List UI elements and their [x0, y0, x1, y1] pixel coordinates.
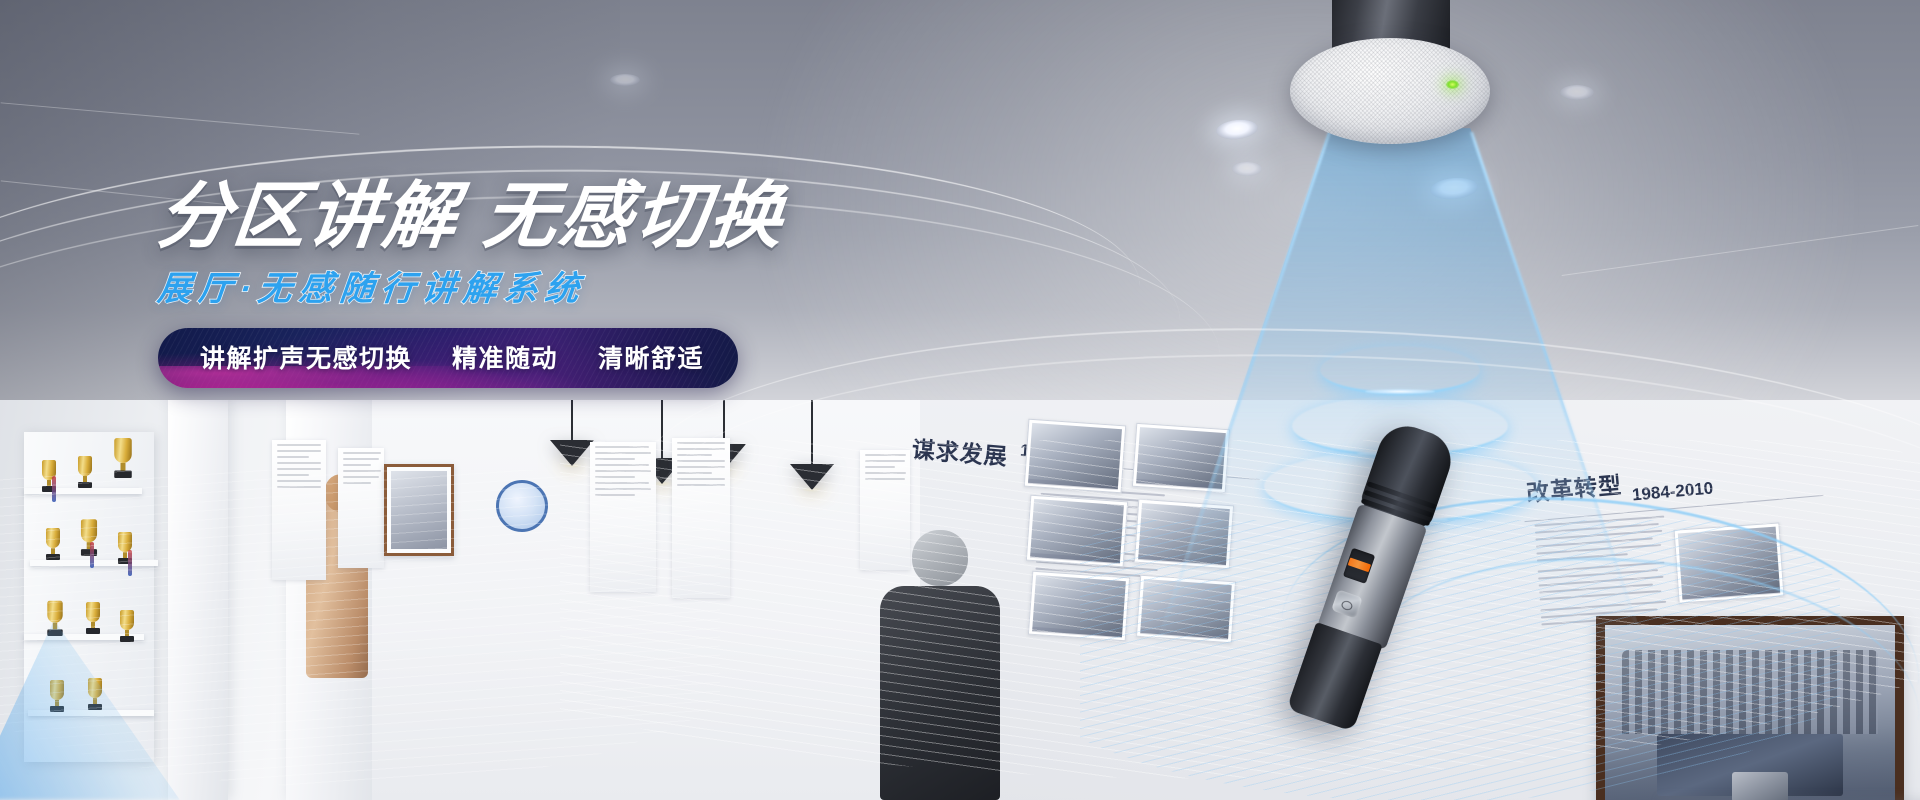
trophy-icon [88, 678, 102, 710]
ceiling-downlight-icon [610, 74, 640, 86]
exhibit-panel [590, 442, 656, 592]
trophy-icon [86, 602, 100, 634]
feature-item-3: 清晰舒适 [598, 339, 704, 375]
headline-part-1: 分区讲解 [154, 176, 463, 257]
pendant-lamp-icon [790, 400, 834, 492]
sound-wave-arc [1320, 346, 1480, 395]
exhibit-photo [1674, 522, 1785, 603]
sound-wave-glow [1365, 389, 1435, 394]
hero-copy: 分区讲解无感切换 展厅·无感随行讲解系统 讲解扩声无感切换 精准随动 清晰舒适 [158, 178, 858, 388]
visitor [880, 530, 1000, 800]
trophy-icon [50, 680, 64, 712]
headline-part-2: 无感切换 [480, 176, 789, 257]
trophy-icon [81, 519, 97, 556]
trophy-icon [120, 610, 134, 642]
trophy-display-case [24, 432, 154, 762]
exhibit-panel [672, 438, 730, 598]
exhibit-panel [338, 448, 384, 568]
exhibition-hall [372, 400, 932, 800]
trophy-icon [114, 438, 132, 478]
wall-pillar [168, 400, 228, 800]
medal-ribbon [52, 476, 56, 502]
framed-portrait [384, 464, 454, 556]
exhibit-panel [272, 440, 326, 580]
trophy-icon [46, 528, 60, 560]
page-subtitle: 展厅·无感随行讲解系统 [155, 261, 860, 310]
page-title: 分区讲解无感切换 [154, 178, 862, 255]
trophy-icon [78, 456, 92, 488]
speaker-grille [1290, 38, 1490, 144]
ceiling-downlight-icon [1560, 85, 1594, 100]
shelf [28, 710, 154, 716]
speaker-status-led [1446, 80, 1459, 89]
hero-banner: 谋求发展 1952-1984 改革转型 1984-2010 [0, 0, 1920, 800]
pendant-lamp-icon [550, 400, 594, 468]
museum-interior-scene: 谋求发展 1952-1984 改革转型 1984-2010 [0, 400, 1920, 800]
feature-item-2: 精准随动 [452, 339, 558, 375]
exhibit-artifact [1732, 772, 1788, 800]
exhibit-right-years: 1984-2010 [1631, 478, 1714, 505]
exhibit-photo [1024, 419, 1127, 494]
medal-ribbon [128, 550, 132, 576]
shelf [30, 560, 158, 566]
ceiling-downlight-icon [1232, 162, 1262, 176]
exhibit-photo [1026, 495, 1128, 568]
exhibit-left-title: 谋求发展 [911, 430, 1009, 471]
feature-item-1: 讲解扩声无感切换 [200, 339, 412, 375]
ceiling-speaker [1290, 0, 1490, 148]
medal-ribbon [90, 542, 94, 568]
feature-pill-badge: 讲解扩声无感切换 精准随动 清晰舒适 [158, 328, 738, 388]
exhibit-photo [1028, 571, 1130, 642]
trophy-icon [47, 601, 62, 636]
school-emblem [496, 480, 548, 532]
